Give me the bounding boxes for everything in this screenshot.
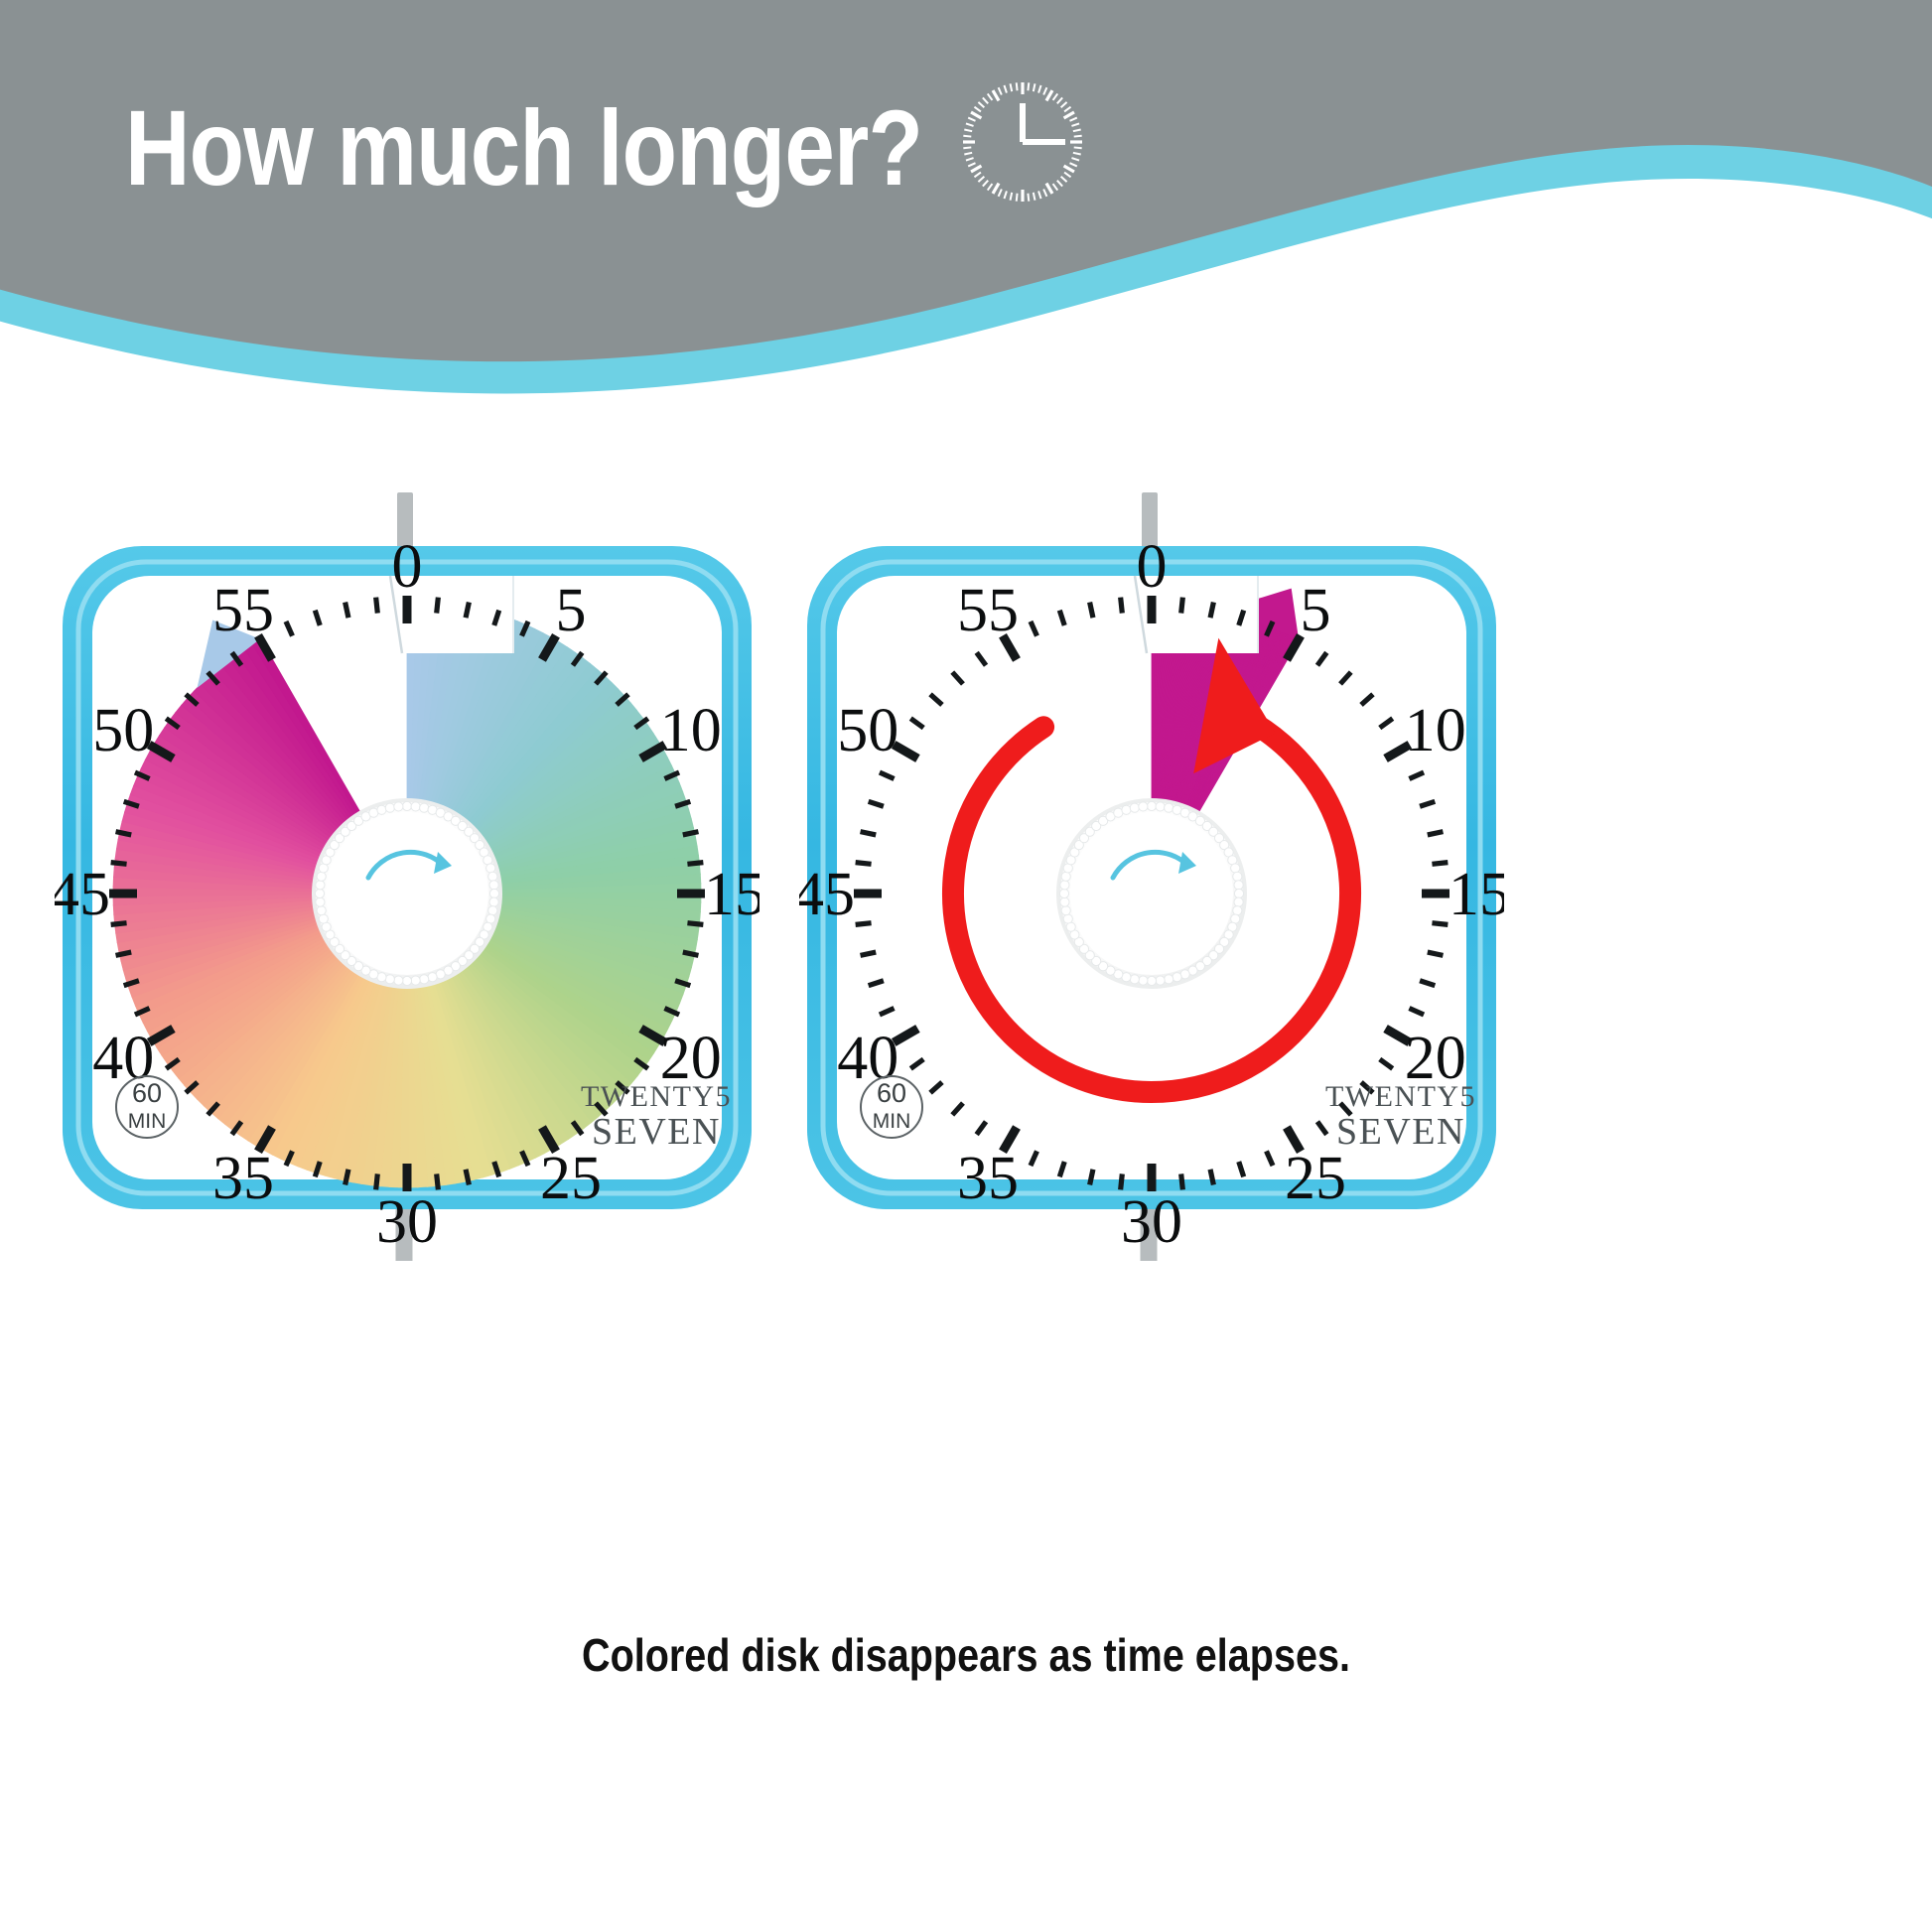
dial-number: 15 bbox=[1449, 861, 1504, 928]
dial-number: 30 bbox=[376, 1188, 438, 1256]
badge-unit: MIN bbox=[128, 1110, 167, 1133]
badge-minutes: 60 bbox=[132, 1078, 162, 1108]
dial-number: 50 bbox=[837, 697, 898, 764]
brand-line-1: TWENTY5 bbox=[581, 1080, 732, 1113]
dial-number: 0 bbox=[1137, 533, 1168, 601]
dial-number: 25 bbox=[540, 1145, 602, 1212]
brand-line-1: TWENTY5 bbox=[1325, 1080, 1476, 1113]
dial-number: 55 bbox=[957, 577, 1019, 644]
dial-number: 45 bbox=[799, 861, 855, 928]
timer-left-graphic: 0510152025303540455055 60 MIN TWENTY5 SE… bbox=[55, 477, 759, 1261]
caption-text: Colored disk disappears as time elapses. bbox=[135, 1628, 1797, 1682]
dial-number: 5 bbox=[556, 577, 587, 644]
badge-minutes: 60 bbox=[877, 1078, 906, 1108]
poster-canvas: How much longer? bbox=[0, 0, 1932, 1932]
dial-number: 35 bbox=[212, 1145, 274, 1212]
dial-number: 25 bbox=[1285, 1145, 1346, 1212]
timer-device-full[interactable]: 0510152025303540455055 60 MIN TWENTY5 SE… bbox=[55, 477, 759, 1261]
dial-number: 50 bbox=[92, 697, 154, 764]
timer-device-elapsed[interactable]: 0510152025303540455055 60 MIN TWENT bbox=[799, 477, 1504, 1261]
timer-knob[interactable] bbox=[1056, 798, 1247, 989]
dial-number: 15 bbox=[704, 861, 759, 928]
dial-number: 10 bbox=[660, 697, 722, 764]
header-banner bbox=[0, 0, 1932, 417]
dial-number: 55 bbox=[212, 577, 274, 644]
badge-unit: MIN bbox=[873, 1110, 911, 1133]
brand-line-2: SEVEN bbox=[1336, 1111, 1465, 1153]
dial-number: 10 bbox=[1405, 697, 1466, 764]
dial-number: 30 bbox=[1121, 1188, 1182, 1256]
timer-right-graphic: 0510152025303540455055 60 MIN TWENT bbox=[799, 477, 1504, 1261]
brand-logo: TWENTY5 SEVEN bbox=[581, 1080, 732, 1153]
dial-number: 5 bbox=[1301, 577, 1331, 644]
dial-number: 45 bbox=[55, 861, 110, 928]
brand-logo: TWENTY5 SEVEN bbox=[1325, 1080, 1476, 1153]
page-title: How much longer? bbox=[125, 91, 922, 204]
brand-line-2: SEVEN bbox=[592, 1111, 721, 1153]
dial-number: 0 bbox=[392, 533, 423, 601]
dial-number: 35 bbox=[957, 1145, 1019, 1212]
clock-icon bbox=[958, 77, 1087, 207]
timer-knob[interactable] bbox=[312, 798, 502, 989]
